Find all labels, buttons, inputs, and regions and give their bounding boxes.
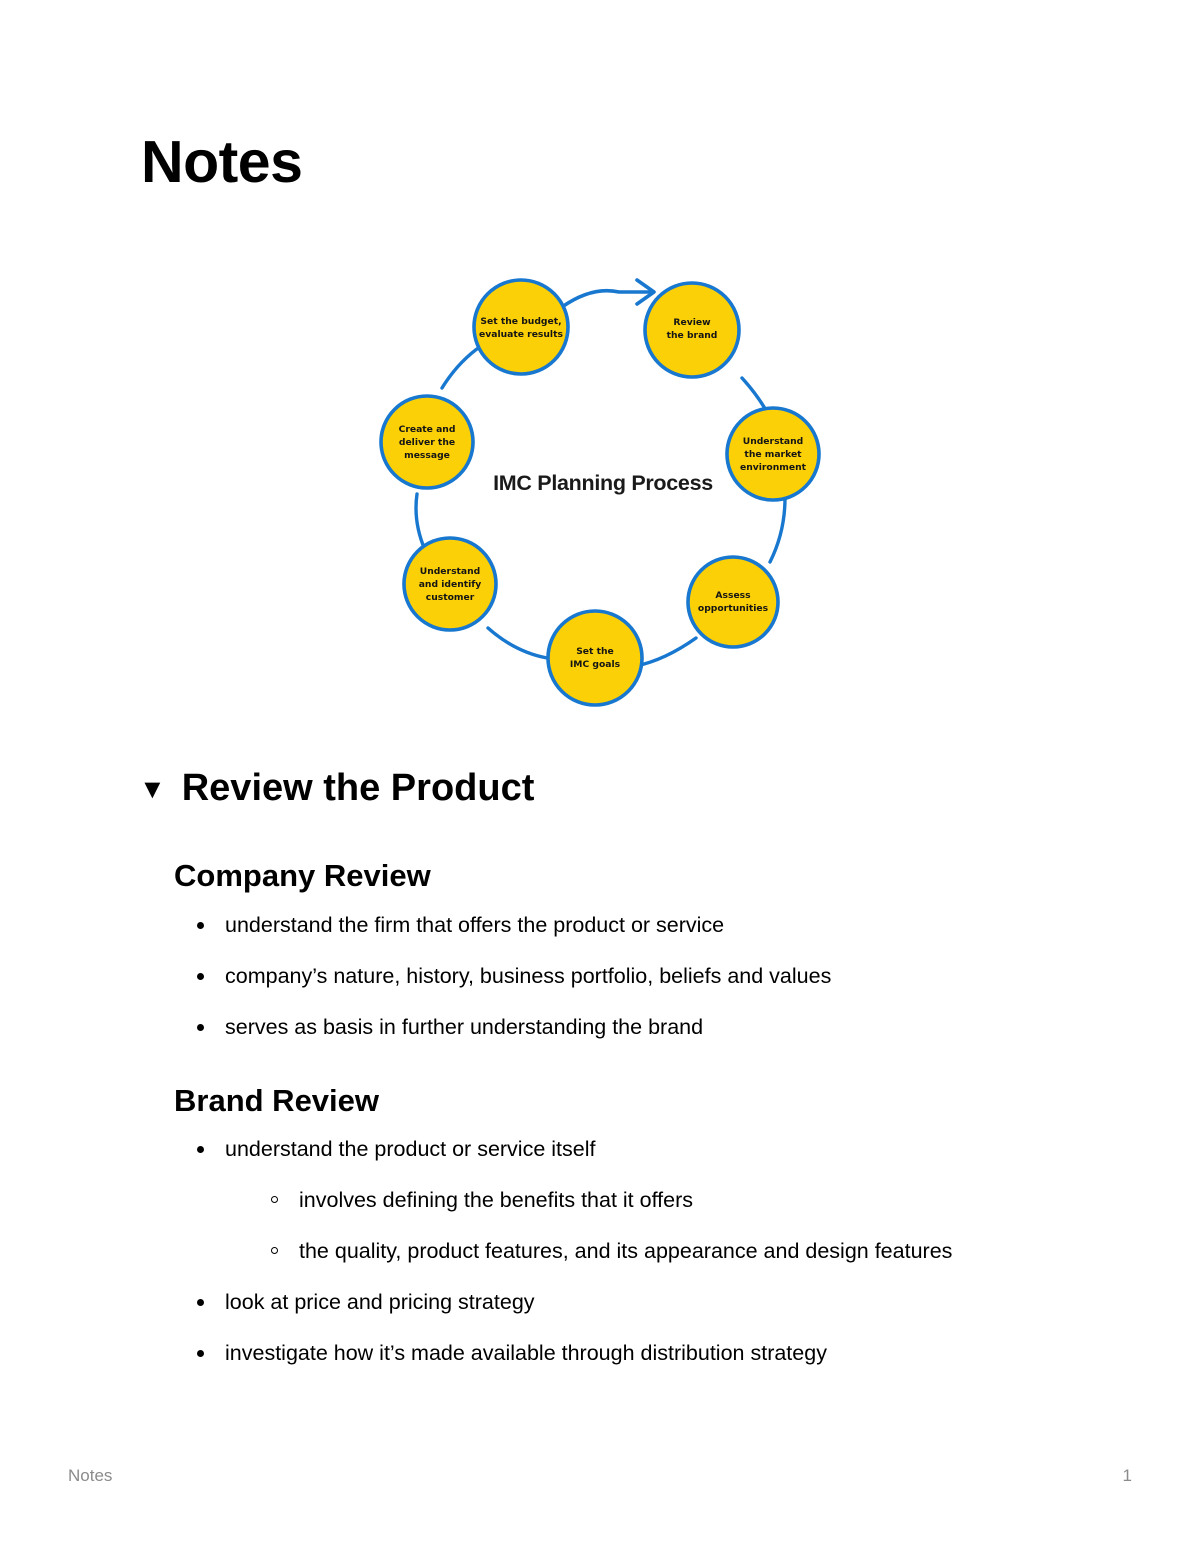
diagram-node-review-the-brand: Review the brand — [645, 283, 739, 377]
list-item: understand the firm that offers the prod… — [195, 912, 1095, 939]
list-item: understand the product or service itself… — [195, 1136, 1095, 1265]
subsection-heading-company-review: Company Review — [174, 858, 431, 894]
diagram-node-set-the-budget-evaluate-results: Set the budget, evaluate results — [474, 280, 568, 374]
footer-page-number: 1 — [1123, 1466, 1132, 1486]
brand-review-sub-bullet-list: involves defining the benefits that it o… — [225, 1187, 1095, 1265]
sub-list-item: the quality, product features, and its a… — [269, 1238, 1095, 1265]
node-label-understand-customer-line-1: Understand — [420, 566, 481, 577]
node-label-understand-market-line-1: Understand — [743, 436, 804, 447]
imc-planning-process-diagram: Review the brand Understand the market e… — [355, 262, 845, 727]
list-item: company’s nature, history, business port… — [195, 963, 1095, 990]
diagram-node-assess-opportunities: Assess opportunities — [688, 557, 778, 647]
diagram-node-set-the-imc-goals: Set the IMC goals — [548, 611, 642, 705]
page-footer: Notes 1 — [68, 1466, 1132, 1486]
sub-list-item-text: the quality, product features, and its a… — [299, 1239, 952, 1263]
node-label-create-deliver-line-3: message — [404, 450, 450, 461]
list-item-text: investigate how it’s made available thro… — [225, 1341, 827, 1365]
node-label-create-deliver-line-1: Create and — [399, 424, 456, 435]
node-label-set-imc-goals-line-2: IMC goals — [570, 659, 621, 670]
diagram-node-understand-the-market-environment: Understand the market environment — [727, 408, 819, 500]
diagram-center-title: IMC Planning Process — [493, 471, 713, 495]
list-item-text: understand the product or service itself — [225, 1137, 595, 1161]
list-item-text: look at price and pricing strategy — [225, 1290, 535, 1314]
company-review-bullet-list: understand the firm that offers the prod… — [195, 912, 1095, 1065]
footer-document-name: Notes — [68, 1466, 112, 1486]
document-page: Notes — [0, 0, 1200, 1553]
brand-review-bullet-list: understand the product or service itself… — [195, 1136, 1095, 1390]
sub-list-item: involves defining the benefits that it o… — [269, 1187, 1095, 1214]
sub-list-item-text: involves defining the benefits that it o… — [299, 1188, 693, 1212]
node-label-set-budget-line-1: Set the budget, — [480, 316, 561, 327]
node-label-review-the-brand-line-1: Review — [673, 317, 711, 328]
collapse-triangle-down-icon[interactable]: ▼ — [139, 776, 166, 803]
diagram-node-create-and-deliver-the-message: Create and deliver the message — [381, 396, 473, 488]
node-label-assess-opportunities-line-2: opportunities — [698, 603, 769, 614]
node-label-understand-customer-line-2: and identify — [419, 579, 482, 590]
list-item-text: company’s nature, history, business port… — [225, 964, 831, 988]
cycle-arrow-icon — [562, 280, 654, 307]
list-item-text: understand the firm that offers the prod… — [225, 913, 724, 937]
node-label-set-imc-goals-line-1: Set the — [576, 646, 614, 657]
node-label-understand-market-line-3: environment — [740, 462, 807, 473]
diagram-node-understand-and-identify-customer: Understand and identify customer — [404, 538, 496, 630]
list-item: look at price and pricing strategy — [195, 1289, 1095, 1316]
list-item: investigate how it’s made available thro… — [195, 1340, 1095, 1367]
list-item-text: serves as basis in further understanding… — [225, 1015, 703, 1039]
section-heading-review-the-product[interactable]: ▼ Review the Product — [139, 768, 534, 810]
node-label-create-deliver-line-2: deliver the — [399, 437, 455, 448]
node-label-understand-market-line-2: the market — [744, 449, 802, 460]
node-label-review-the-brand-line-2: the brand — [667, 330, 718, 341]
node-label-assess-opportunities-line-1: Assess — [715, 590, 751, 601]
list-item: serves as basis in further understanding… — [195, 1014, 1095, 1041]
section-heading-label: Review the Product — [182, 768, 535, 810]
node-label-understand-customer-line-3: customer — [426, 592, 475, 603]
node-label-set-budget-line-2: evaluate results — [479, 329, 563, 340]
page-title: Notes — [141, 132, 302, 194]
subsection-heading-brand-review: Brand Review — [174, 1083, 379, 1119]
